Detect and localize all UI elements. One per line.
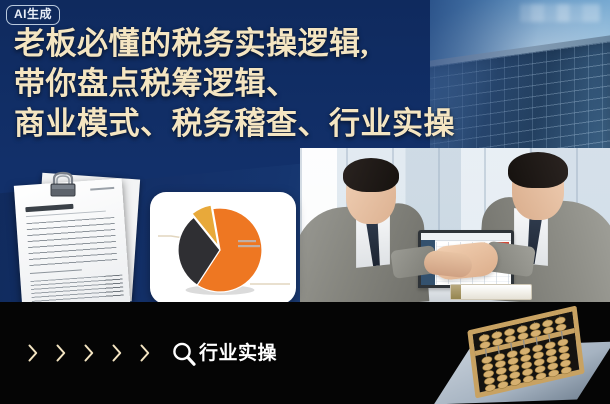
blurred-watermark <box>520 4 600 22</box>
person-left-hair <box>343 158 399 192</box>
footer-search-label: 行业实操 <box>199 340 277 368</box>
magnifier-icon[interactable] <box>170 340 198 368</box>
document-heading <box>25 204 73 212</box>
ai-generated-badge: AI生成 <box>6 5 60 25</box>
notebook-on-desk <box>450 284 532 300</box>
chevron-right-icon <box>28 344 38 362</box>
chevron-group <box>28 344 150 362</box>
poster-canvas: AI生成 老板必懂的税务实操逻辑, 带你盘点税筹逻辑、 商业模式、税务稽查、行业… <box>0 0 610 404</box>
chevron-right-icon <box>112 344 122 362</box>
binder-clip-icon <box>48 170 78 200</box>
pie-chart <box>150 192 296 304</box>
headline-line-3: 商业模式、税务稽查、行业实操 <box>14 104 574 144</box>
document-stack <box>4 168 140 308</box>
handshake-photo <box>300 148 610 302</box>
headline-line-2: 带你盘点税筹逻辑、 <box>14 64 574 104</box>
chevron-right-icon <box>140 344 150 362</box>
person-right-hair <box>508 152 568 188</box>
abacus-object <box>468 318 594 398</box>
headline-line-1: 老板必懂的税务实操逻辑, <box>14 24 574 64</box>
page-title: 老板必懂的税务实操逻辑, 带你盘点税筹逻辑、 商业模式、税务稽查、行业实操 <box>14 24 574 144</box>
document-table-amounts <box>104 275 123 298</box>
footer-search-row[interactable]: 行业实操 <box>170 340 277 368</box>
chevron-right-icon <box>56 344 66 362</box>
document-paragraph <box>26 217 117 269</box>
pie-chart-card <box>150 192 296 304</box>
chevron-right-icon <box>84 344 94 362</box>
